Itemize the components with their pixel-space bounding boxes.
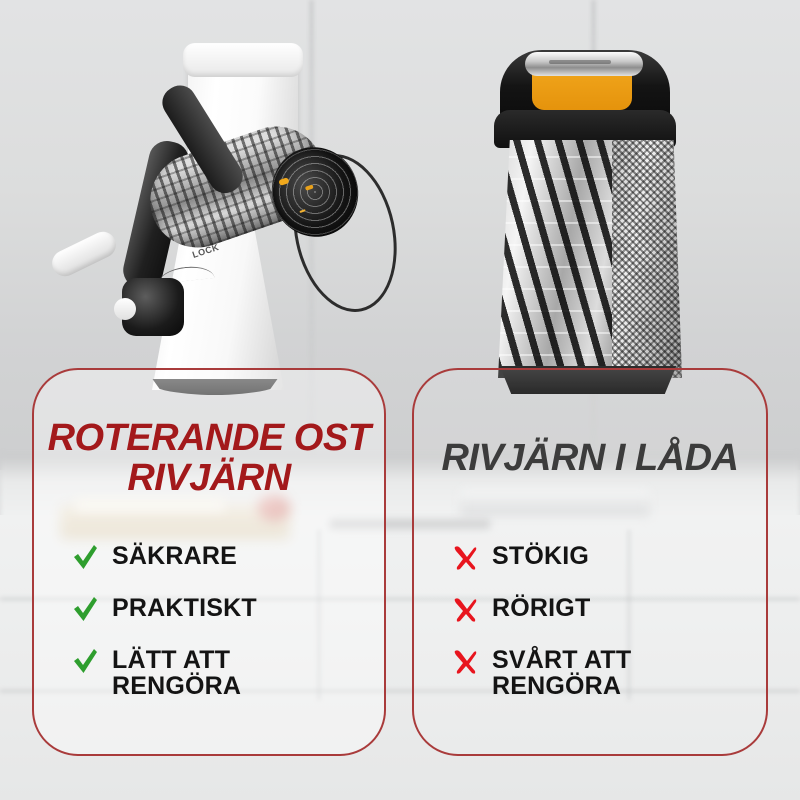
comparison-card-positive: ROTERANDE OST RIVJÄRN SÄKRARE PRAKTISKT [32, 368, 386, 756]
check-icon [72, 542, 99, 572]
feature-item: SVÅRT ATT RENGÖRA [452, 646, 750, 699]
feature-list-positive: SÄKRARE PRAKTISKT LÄTT ATT RENGÖRA [72, 542, 368, 699]
cross-icon [452, 542, 479, 572]
feature-label: PRAKTISKT [112, 594, 257, 621]
check-icon [72, 646, 99, 676]
feature-label: RÖRIGT [492, 594, 590, 621]
feature-item: RÖRIGT [452, 594, 750, 624]
feature-item: STÖKIG [452, 542, 750, 572]
feature-label: LÄTT ATT RENGÖRA [112, 646, 241, 699]
cross-icon [452, 646, 479, 676]
comparison-card-negative: RIVJÄRN I LÅDA STÖKIG RÖRIGT [412, 368, 768, 756]
check-icon [72, 594, 99, 624]
feature-list-negative: STÖKIG RÖRIGT SVÅRT ATT RENGÖRA [452, 542, 750, 699]
comparison-cards: ROTERANDE OST RIVJÄRN SÄKRARE PRAKTISKT [0, 0, 800, 800]
feature-label: SÄKRARE [112, 542, 237, 569]
cross-icon [452, 594, 479, 624]
card-title-negative: RIVJÄRN I LÅDA [414, 438, 766, 478]
feature-label: SVÅRT ATT RENGÖRA [492, 646, 631, 699]
feature-item: LÄTT ATT RENGÖRA [72, 646, 368, 699]
feature-label: STÖKIG [492, 542, 589, 569]
card-title-positive: ROTERANDE OST RIVJÄRN [34, 418, 384, 499]
feature-item: PRAKTISKT [72, 594, 368, 624]
feature-item: SÄKRARE [72, 542, 368, 572]
